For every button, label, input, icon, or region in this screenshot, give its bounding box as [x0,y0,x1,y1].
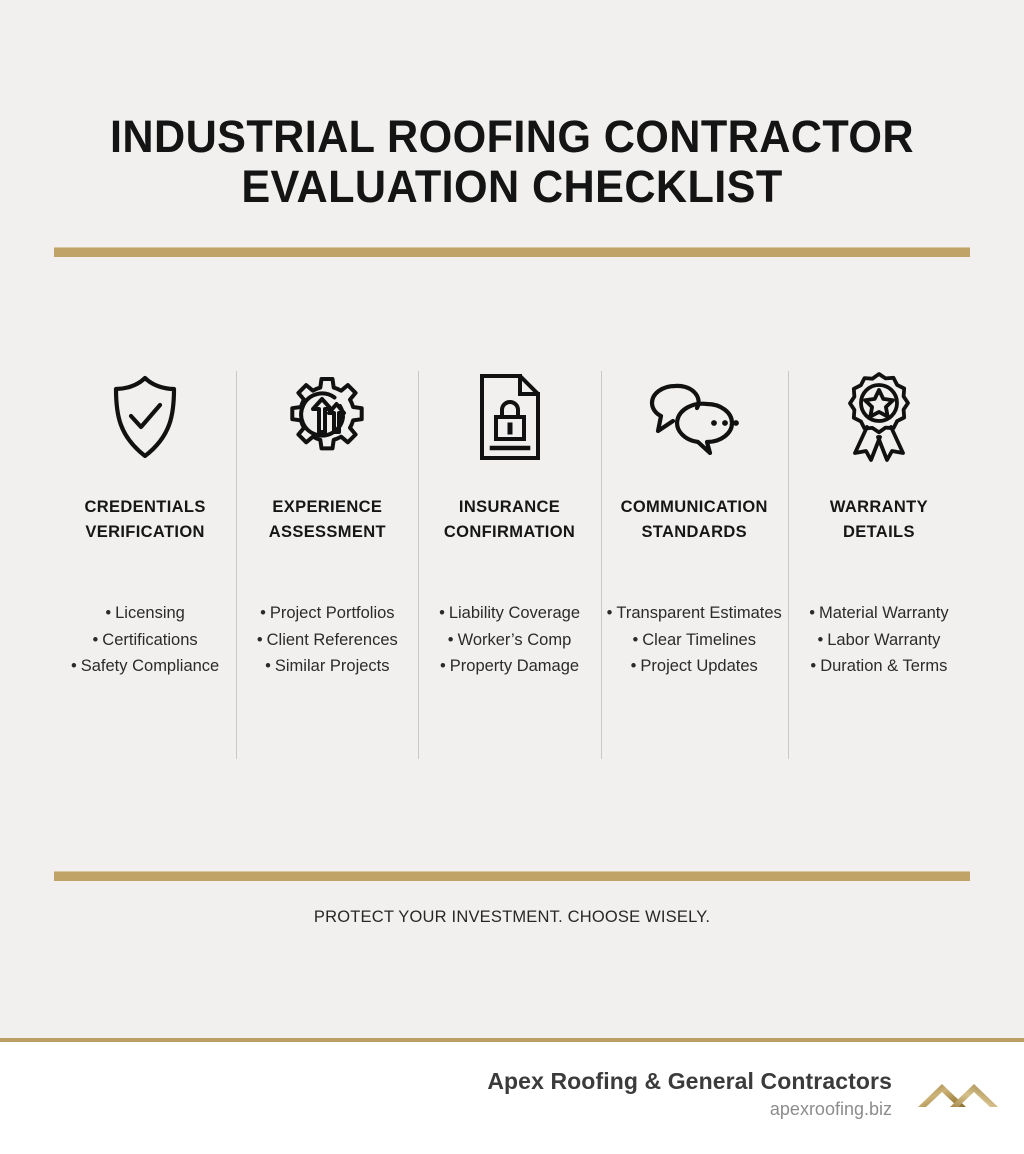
column-bullet-list: •Liability Coverage •Worker’s Comp •Prop… [439,600,580,680]
list-item: •Worker’s Comp [439,627,580,654]
list-item: •Material Warranty [809,600,948,627]
list-item: •Licensing [71,600,219,627]
list-item-label: Property Damage [450,657,579,675]
column-heading-line1: INSURANCE [444,495,575,521]
title-block: INDUSTRIAL ROOFING CONTRACTOR EVALUATION… [54,112,970,257]
list-item-label: Material Warranty [819,604,949,622]
list-item: •Transparent Estimates [607,600,782,627]
bullet-icon: • [439,604,445,622]
column-bullet-list: •Licensing •Certifications •Safety Compl… [71,600,219,680]
poster-card: INDUSTRIAL ROOFING CONTRACTOR EVALUATION… [0,0,1024,1038]
bullet-icon: • [265,657,271,675]
document-lock-icon [476,369,544,465]
checklist-column-insurance-confirmation: INSURANCE CONFIRMATION •Liability Covera… [418,369,600,759]
column-bullet-list: •Project Portfolios •Client References •… [257,600,398,680]
list-item: •Client References [257,627,398,654]
bullet-icon: • [810,657,816,675]
bullet-icon: • [809,604,815,622]
bullet-icon: • [93,631,99,649]
column-heading-line1: EXPERIENCE [269,495,386,521]
bullet-icon: • [448,631,454,649]
list-item-label: Project Updates [640,657,757,675]
page-title: INDUSTRIAL ROOFING CONTRACTOR EVALUATION… [90,112,935,213]
column-heading: INSURANCE CONFIRMATION [444,495,575,546]
list-item-label: Labor Warranty [827,631,940,649]
list-item-label: Duration & Terms [820,657,947,675]
tagline: PROTECT YOUR INVESTMENT. CHOOSE WISELY. [54,908,970,927]
list-item-label: Safety Compliance [81,657,220,675]
list-item: •Certifications [71,627,219,654]
brand-name: Apex Roofing & General Contractors [487,1067,892,1096]
column-heading-line2: ASSESSMENT [269,520,386,546]
column-heading-line2: STANDARDS [621,520,768,546]
award-ribbon-star-icon [839,369,919,465]
column-heading-line1: COMMUNICATION [621,495,768,521]
roof-peaks-logo-icon [916,1073,1000,1117]
list-item-label: Licensing [115,604,185,622]
list-item: •Labor Warranty [809,627,948,654]
speech-bubbles-icon [648,369,740,465]
list-item: •Property Damage [439,653,580,680]
checklist-column-credentials-verification: CREDENTIALS VERIFICATION •Licensing •Cer… [54,369,236,759]
column-heading-line1: WARRANTY [830,495,928,521]
brand-text: Apex Roofing & General Contractors apexr… [487,1067,892,1123]
list-item-label: Certifications [102,631,197,649]
column-bullet-list: •Transparent Estimates •Clear Timelines … [607,600,782,680]
column-heading: WARRANTY DETAILS [830,495,928,546]
column-heading: EXPERIENCE ASSESSMENT [269,495,386,546]
list-item: •Liability Coverage [439,600,580,627]
bullet-icon: • [257,631,263,649]
list-item-label: Worker’s Comp [458,631,572,649]
brand-url[interactable]: apexroofing.biz [487,1096,892,1123]
column-heading-line2: DETAILS [830,520,928,546]
bullet-icon: • [817,631,823,649]
bullet-icon: • [440,657,446,675]
column-heading: CREDENTIALS VERIFICATION [85,495,206,546]
bullet-icon: • [260,604,266,622]
list-item-label: Client References [267,631,398,649]
checklist-column-communication-standards: COMMUNICATION STANDARDS •Transparent Est… [601,369,788,759]
list-item: •Project Updates [607,653,782,680]
checklist-column-experience-assessment: EXPERIENCE ASSESSMENT •Project Portfolio… [236,369,418,759]
list-item: •Clear Timelines [607,627,782,654]
bullet-icon: • [632,631,638,649]
gear-growth-arrows-icon [285,369,369,465]
footer: Apex Roofing & General Contractors apexr… [0,1042,1024,1154]
list-item-label: Similar Projects [275,657,390,675]
checklist-columns: CREDENTIALS VERIFICATION •Licensing •Cer… [54,369,970,759]
column-heading-line2: VERIFICATION [85,520,206,546]
list-item-label: Project Portfolios [270,604,395,622]
list-item: •Similar Projects [257,653,398,680]
list-item: •Project Portfolios [257,600,398,627]
column-heading-line1: CREDENTIALS [85,495,206,521]
column-heading: COMMUNICATION STANDARDS [621,495,768,546]
list-item: •Safety Compliance [71,653,219,680]
bullet-icon: • [607,604,613,622]
bullet-icon: • [71,657,77,675]
list-item-label: Transparent Estimates [616,604,781,622]
column-bullet-list: •Material Warranty •Labor Warranty •Dura… [809,600,948,680]
footer-brand-block: Apex Roofing & General Contractors apexr… [487,1067,1000,1123]
tagline-gold-divider [54,871,970,881]
checklist-column-warranty-details: WARRANTY DETAILS •Material Warranty •Lab… [788,369,970,759]
list-item: •Duration & Terms [809,653,948,680]
bullet-icon: • [631,657,637,675]
infographic-poster: INDUSTRIAL ROOFING CONTRACTOR EVALUATION… [0,0,1024,1154]
list-item-label: Clear Timelines [642,631,756,649]
shield-check-icon [109,369,181,465]
list-item-label: Liability Coverage [449,604,580,622]
title-gold-divider [54,247,970,257]
column-heading-line2: CONFIRMATION [444,520,575,546]
bullet-icon: • [105,604,111,622]
